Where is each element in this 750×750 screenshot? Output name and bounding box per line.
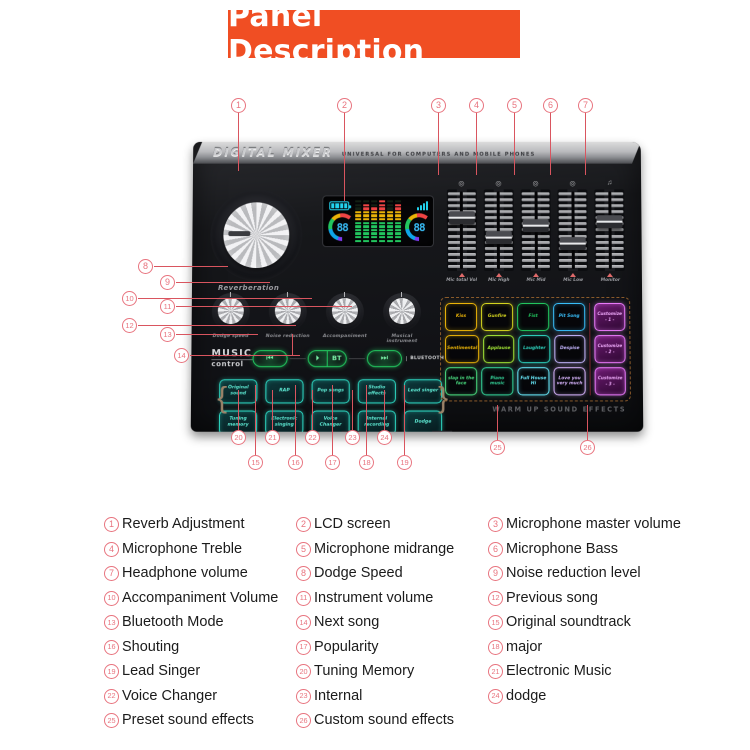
legend-label: Dodge Speed [314,565,403,582]
legend-item-19: 19Lead Singer [104,663,296,680]
effect-button-applause[interactable]: Applause [483,335,514,363]
knob-cap[interactable] [275,298,301,324]
legend-row: 25Preset sound effects26Custom sound eff… [104,712,750,729]
legend-item-8: 8Dodge Speed [296,565,488,582]
legend-row: 13Bluetooth Mode14Next song15Original so… [104,614,750,631]
fader-slot [460,191,463,269]
legend-item-12: 12Previous song [488,590,718,607]
legend-row: 16Shouting17Popularity18major [104,639,750,656]
mode-button-voice-changer[interactable]: Voice Changer [311,411,349,432]
legend-number: 21 [488,664,503,679]
fader-bank: ◎Mic total Vol◎Mic High◎Mic Mid◎Mic Low♫… [444,178,628,291]
legend-label: Original soundtrack [506,614,631,631]
legend-item-23: 23Internal [296,688,488,705]
callout-number-14: 14 [174,348,189,363]
legend-item-14: 14Next song [296,614,488,631]
small-knob-row: Dodge speedNoise reductionAccompanimentM… [212,293,438,331]
callout-number-26: 26 [580,440,595,455]
fader-track[interactable] [558,189,588,271]
effect-button-kiss[interactable]: Kiss [445,303,477,331]
callout-number-16: 16 [288,455,303,470]
legend-item-9: 9Noise reduction level [488,565,718,582]
legend-number: 12 [488,591,503,606]
legend-number: 25 [104,713,119,728]
legend-number: 1 [104,517,119,532]
fader-cap[interactable] [560,237,586,250]
knob-label: Accompaniment [319,334,371,339]
music-control-line1: MUSIC [211,348,252,360]
legend-number: 9 [488,566,503,581]
legend-number: 16 [104,640,119,655]
effects-row-1: KissGunfireFistPit Song [445,303,585,331]
left-controls-column: Reverberation 88 88 [206,189,434,277]
knob-cap[interactable] [332,298,358,324]
sound-effects-pad: KissGunfireFistPit Song SentimentalAppla… [440,297,631,401]
previous-song-button[interactable]: ⏮ [252,350,288,367]
legend-number: 13 [104,615,119,630]
brand-tagline: UNIVERSAL FOR COMPUTERS AND MOBILE PHONE… [342,152,536,158]
legend-item-17: 17Popularity [296,639,488,656]
fader-label: Monitor [601,278,620,283]
legend-number: 5 [296,542,311,557]
legend-row: 10Accompaniment Volume11Instrument volum… [104,590,750,607]
lcd-left-dial: 88 [328,213,356,241]
legend-number: 20 [296,664,311,679]
legend-number: 17 [296,640,311,655]
legend-row: 7Headphone volume8Dodge Speed9Noise redu… [104,565,750,582]
callout-number-12: 12 [122,318,137,333]
fader-track[interactable] [521,189,551,271]
legend-row: 19Lead Singer20Tuning Memory21Electronic… [104,663,750,680]
legend-row: 4Microphone Treble5Microphone midrange6M… [104,541,750,558]
fader-cap[interactable] [449,211,475,224]
legend-label: Next song [314,614,379,631]
legend-number: 14 [296,615,311,630]
callout-number-21: 21 [265,430,280,445]
callout-number-17: 17 [325,455,340,470]
divider [349,358,365,359]
fader-mic-high[interactable]: ◎Mic High [481,178,516,291]
callout-number-5: 5 [507,98,522,113]
next-song-icon: ⏭ [381,353,388,363]
callout-number-9: 9 [160,275,175,290]
fader-mic-mid[interactable]: ◎Mic Mid [518,178,554,291]
callout-number-11: 11 [160,299,175,314]
preset-effects-grid: KissGunfireFistPit Song SentimentalAppla… [445,303,586,395]
lcd-right-cluster: 88 [405,200,428,242]
fader-cap[interactable] [523,219,549,232]
legend-item-18: 18major [488,639,718,656]
custom-effects-column: Customize- 1 -Customize- 2 -Customize- 3… [589,303,626,395]
legend-label: Instrument volume [314,590,433,607]
mode-button-dodge[interactable]: Dodge [404,411,442,432]
knob-4[interactable]: Musical instrument [383,293,421,331]
fader-slot [608,191,612,269]
fader-arrow-marker [533,273,539,277]
digital-mixer-device: DIGITAL MIXER UNIVERSAL FOR COMPUTERS AN… [191,142,644,432]
legend-label: Popularity [314,639,378,656]
reverb-label: Reverberation [218,284,279,292]
effect-button-pit-song[interactable]: Pit Song [553,303,585,331]
legend-item-7: 7Headphone volume [104,565,296,582]
legend-label: Microphone midrange [314,541,454,558]
legend-item-20: 20Tuning Memory [296,663,488,680]
fader-arrow-marker [459,273,465,277]
legend-label: Accompaniment Volume [122,590,278,607]
custom-effect-button-3[interactable]: Customize- 3 - [595,367,626,395]
knob-label: Dodge speed [205,334,257,339]
headphone-icon: ♫ [607,178,612,189]
legend-number: 24 [488,689,503,704]
knob-ring [212,293,250,331]
effect-button-piano-music[interactable]: Piano music [481,367,513,395]
legend-item-5: 5Microphone midrange [296,541,488,558]
music-control-line2: control [211,360,252,368]
mode-button-lead-singer[interactable]: Lead singer [404,379,442,403]
effects-row-3: slap in the facePiano musicFull House Hi… [445,367,586,395]
mode-button-row-2: Tuning memoryElectronic singingVoice Cha… [219,411,446,432]
legend-item-26: 26Custom sound effects [296,712,488,729]
legend-number: 8 [296,566,311,581]
legend-number: 19 [104,664,119,679]
brace-left-decoration: { [217,381,227,415]
callout-number-23: 23 [345,430,360,445]
effects-row-2: SentimentalApplauseLaughterDespise [445,335,585,363]
legend-number: 11 [296,591,311,606]
legend-label: Internal [314,688,362,705]
legend-label: Microphone master volume [506,516,681,533]
callout-number-25: 25 [490,440,505,455]
knob-tick [230,292,231,297]
fader-cap[interactable] [486,231,512,244]
mode-button-studio-effects[interactable]: Studio effects [358,379,396,403]
lcd-left-value: 88 [337,221,348,234]
callout-number-13: 13 [160,327,175,342]
bluetooth-toggle-icon: BT [328,354,346,362]
fader-mic-total-vol[interactable]: ◎Mic total Vol [444,178,479,291]
next-song-button[interactable]: ⏭ [367,350,403,367]
device-illustration: DIGITAL MIXER UNIVERSAL FOR COMPUTERS AN… [0,85,750,495]
fader-track[interactable] [484,189,514,271]
bluetooth-label: BLUETOOTH [406,356,444,361]
signal-bars-icon [417,201,428,210]
vu-column [363,200,369,242]
effect-button-full-house-hi[interactable]: Full House Hi [517,367,549,395]
legend-label: Tuning Memory [314,663,414,680]
custom-effect-button-1[interactable]: Customize- 1 - [594,303,625,331]
knob-ring [326,293,364,331]
lcd-left-cluster: 88 [328,200,351,242]
knob-3[interactable]: Accompaniment [326,293,364,331]
legend-item-6: 6Microphone Bass [488,541,718,558]
legend-number: 3 [488,517,503,532]
legend-label: Lead Singer [122,663,200,680]
callout-number-10: 10 [122,291,137,306]
callout-number-19: 19 [397,455,412,470]
previous-song-icon: ⏮ [266,353,273,363]
callout-number-15: 15 [248,455,263,470]
legend-number: 26 [296,713,311,728]
effect-button-sentimental[interactable]: Sentimental [445,335,479,363]
legend-label: Voice Changer [122,688,217,705]
page-title-banner: Panel Description [228,10,520,58]
divider [290,358,306,359]
legend-item-25: 25Preset sound effects [104,712,296,729]
mode-button-row-1: Original soundRAPPop songsStudio effects… [219,379,446,403]
callout-number-7: 7 [578,98,593,113]
effect-button-fist[interactable]: Fist [517,303,549,331]
legend-label: Preset sound effects [122,712,254,729]
microphone-icon: ◎ [458,178,464,189]
callout-number-4: 4 [469,98,484,113]
knob-label: Musical instrument [376,334,428,344]
vu-column [395,200,401,242]
fader-slot [571,191,574,269]
callout-number-20: 20 [231,430,246,445]
lcd-screen: 88 88 [322,195,434,247]
vu-column [379,200,385,242]
knob-label: Noise reduction [262,334,314,339]
fader-arrow-marker [607,273,613,277]
lcd-vu-meter [355,200,401,242]
play-pause-bluetooth-button[interactable]: ⏵ BT [308,350,347,367]
lcd-right-dial: 88 [405,213,433,241]
knob-2[interactable]: Noise reduction [269,293,307,331]
fader-label: Mic High [488,278,509,283]
knob-cap[interactable] [218,298,244,324]
low-band-icon: ◎ [570,178,576,189]
fader-label: Mic total Vol [446,278,477,283]
vu-column [355,200,361,242]
custom-index: - 2 - [605,349,614,355]
fader-track[interactable] [595,189,626,271]
effect-button-love-you-very-much[interactable]: Love you very much [553,367,585,395]
knob-tick [287,292,288,297]
legend-label: Microphone Bass [506,541,618,558]
knob-tick [344,292,345,297]
legend-label: Previous song [506,590,598,607]
knob-tick [401,292,402,297]
legend-item-21: 21Electronic Music [488,663,718,680]
custom-index: - 1 - [605,317,614,323]
fader-arrow-marker [496,273,502,277]
legend-item-4: 4Microphone Treble [104,541,296,558]
legend-item-22: 22Voice Changer [104,688,296,705]
vu-column [371,200,377,242]
effect-button-slap-in-the-face[interactable]: slap in the face [445,367,477,395]
knob-cap[interactable] [389,298,415,324]
fader-arrow-marker [570,273,576,277]
legend-list: 1Reverb Adjustment2LCD screen3Microphone… [0,508,750,750]
callout-number-3: 3 [431,98,446,113]
legend-label: Custom sound effects [314,712,454,729]
device-foot [432,431,452,432]
legend-label: LCD screen [314,516,391,533]
callout-number-24: 24 [377,430,392,445]
mode-button-grid: { } Original soundRAPPop songsStudio eff… [219,379,446,431]
page-title: Panel Description [228,0,520,69]
fader-label: Mic Low [563,278,583,283]
warm-up-sound-effects-label: WARM UP SOUND EFFECTS [492,405,626,413]
legend-item-10: 10Accompaniment Volume [104,590,296,607]
reverb-knob-group[interactable]: Reverberation [206,189,312,277]
custom-index: - 3 - [606,381,615,387]
music-control-label: MUSIC control [211,348,252,368]
legend-number: 7 [104,566,119,581]
callout-number-6: 6 [543,98,558,113]
mode-button-rap[interactable]: RAP [265,379,303,403]
mode-button-electronic-singing[interactable]: Electronic singing [265,411,303,432]
legend-item-16: 16Shouting [104,639,296,656]
legend-label: Noise reduction level [506,565,641,582]
legend-item-3: 3Microphone master volume [488,516,718,533]
brand-name: DIGITAL MIXER [213,146,333,159]
legend-item-15: 15Original soundtrack [488,614,718,631]
fader-track[interactable] [446,189,476,271]
legend-label: Headphone volume [122,565,248,582]
callout-number-22: 22 [305,430,320,445]
legend-number: 15 [488,615,503,630]
legend-row: 1Reverb Adjustment2LCD screen3Microphone… [104,516,750,533]
legend-number: 23 [296,689,311,704]
legend-label: dodge [506,688,546,705]
legend-label: major [506,639,542,656]
device-branding: DIGITAL MIXER UNIVERSAL FOR COMPUTERS AN… [213,146,535,159]
vu-column [387,200,393,242]
mode-button-internal-recording[interactable]: Internal recording [358,411,396,432]
lcd-right-value: 88 [413,221,424,234]
legend-number: 4 [104,542,119,557]
legend-label: Bluetooth Mode [122,614,224,631]
callout-number-2: 2 [337,98,352,113]
legend-item-24: 24dodge [488,688,718,705]
legend-item-2: 2LCD screen [296,516,488,533]
fader-mic-low[interactable]: ◎Mic Low [555,178,591,291]
legend-label: Electronic Music [506,663,612,680]
knob-ring [269,293,307,331]
fader-monitor[interactable]: ♫Monitor [592,178,628,291]
legend-item-1: 1Reverb Adjustment [104,516,296,533]
legend-row: 22Voice Changer23Internal24dodge [104,688,750,705]
effect-button-despise[interactable]: Despise [554,335,586,363]
legend-label: Shouting [122,639,179,656]
battery-icon [329,201,349,210]
fader-label: Mic Mid [526,278,545,283]
legend-label: Reverb Adjustment [122,516,245,533]
legend-number: 22 [104,689,119,704]
legend-item-13: 13Bluetooth Mode [104,614,296,631]
legend-label: Microphone Treble [122,541,242,558]
callout-number-18: 18 [359,455,374,470]
legend-number: 18 [488,640,503,655]
legend-number: 2 [296,517,311,532]
fader-cap[interactable] [597,215,623,228]
effect-button-laughter[interactable]: Laughter [519,335,551,363]
effect-button-gunfire[interactable]: Gunfire [481,303,513,331]
mid-band-icon: ◎ [532,178,538,189]
legend-item-11: 11Instrument volume [296,590,488,607]
custom-effect-button-2[interactable]: Customize- 2 - [594,335,625,363]
play-icon: ⏵ [309,354,327,363]
knob-ring [383,293,421,331]
mode-button-pop-songs[interactable]: Pop songs [312,379,350,403]
callout-number-1: 1 [231,98,246,113]
high-band-icon: ◎ [495,178,501,189]
device-foot [342,431,362,432]
knob-1[interactable]: Dodge speed [212,293,250,331]
legend-number: 10 [104,591,119,606]
legend-number: 6 [488,542,503,557]
legend-item-empty [488,712,718,729]
music-control-section: MUSIC control ⏮ ⏵ BT ⏭ [211,345,444,371]
reverb-knob[interactable] [223,202,289,268]
callout-number-8: 8 [138,259,153,274]
